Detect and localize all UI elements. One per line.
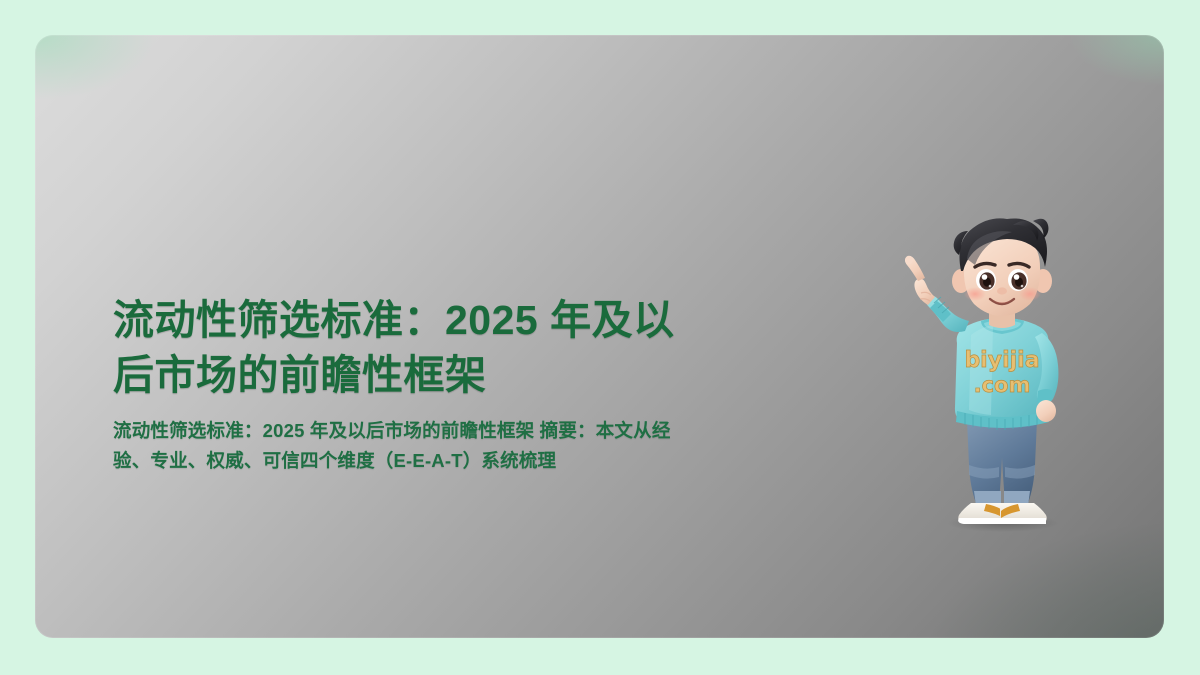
subtitle-line-1: 流动性筛选标准：2025 年及以后市场的前瞻性框架 摘要：本文从经: [113, 420, 671, 441]
title-line-1: 流动性筛选标准：2025 年及以: [113, 297, 675, 343]
mascot-sweater-text: biyijia .com: [964, 348, 1039, 397]
sweater-text-line-2: .com: [974, 373, 1031, 397]
slide-card: 流动性筛选标准：2025 年及以 后市场的前瞻性框架 流动性筛选标准：2025 …: [35, 35, 1164, 638]
mascot-shoes: [958, 503, 1047, 524]
slide-stage: 流动性筛选标准：2025 年及以 后市场的前瞻性框架 流动性筛选标准：2025 …: [0, 0, 1200, 675]
mascot-pointing-arm: [905, 256, 969, 332]
mascot-jeans: [967, 420, 1037, 506]
mascot-head: [952, 218, 1052, 316]
slide-text-block: 流动性筛选标准：2025 年及以 后市场的前瞻性框架 流动性筛选标准：2025 …: [113, 293, 803, 476]
page-title: 流动性筛选标准：2025 年及以 后市场的前瞻性框架: [113, 293, 803, 402]
subtitle-line-2: 验、专业、权威、可信四个维度（E-E-A-T）系统梳理: [113, 450, 556, 471]
sweater-text-line-1: biyijia: [964, 348, 1039, 373]
page-subtitle: 流动性筛选标准：2025 年及以后市场的前瞻性框架 摘要：本文从经 验、专业、权…: [113, 416, 803, 476]
mascot-illustration: biyijia .com: [885, 215, 1115, 535]
title-line-2: 后市场的前瞻性框架: [113, 352, 487, 398]
